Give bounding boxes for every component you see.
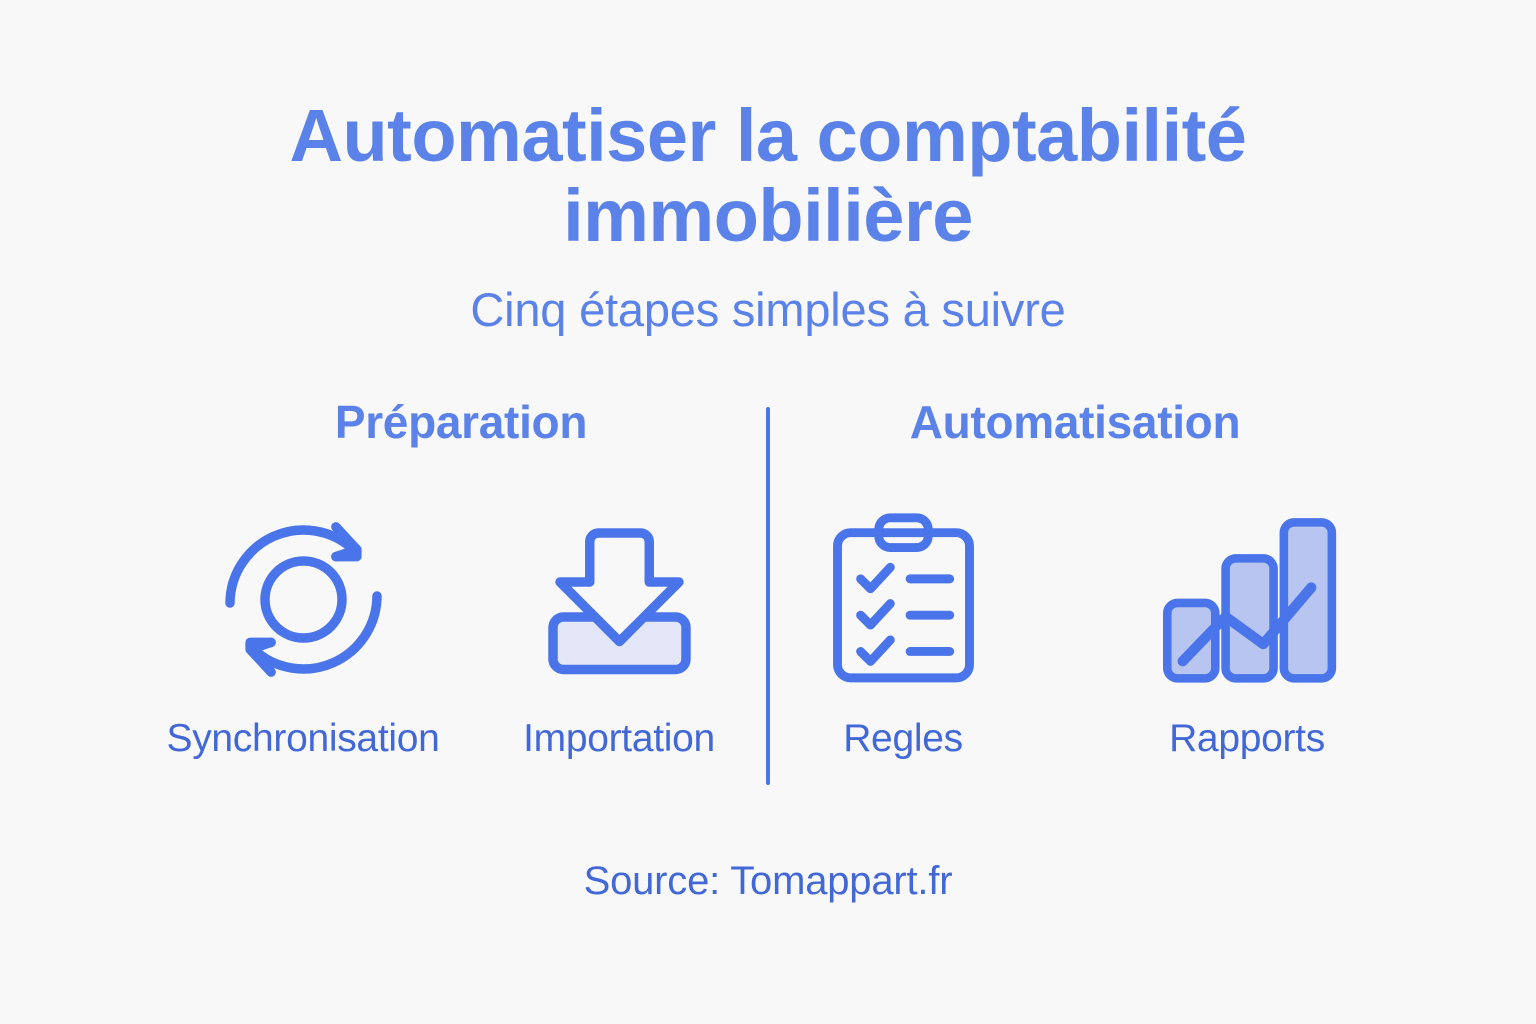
icon-wrap-importation	[532, 505, 707, 695]
items-preparation: Synchronisation Importation	[163, 505, 759, 761]
column-preparation: Préparation	[156, 395, 766, 761]
import-download-tray-icon	[532, 512, 707, 687]
header-block: Automatiser la comptabilité immobilière …	[0, 96, 1536, 337]
sync-arrows-icon	[216, 512, 391, 687]
item-regles[interactable]: Regles	[763, 505, 1043, 761]
item-label-importation: Importation	[523, 717, 715, 761]
item-synchronisation[interactable]: Synchronisation	[163, 505, 443, 761]
column-title-automatisation: Automatisation	[910, 395, 1241, 449]
item-importation[interactable]: Importation	[479, 505, 759, 761]
column-automatisation: Automatisation	[770, 395, 1380, 761]
source-attribution: Source: Tomappart.fr	[584, 859, 953, 904]
page-title: Automatiser la comptabilité immobilière	[178, 96, 1358, 256]
clipboard-checklist-icon	[821, 512, 986, 687]
column-title-preparation: Préparation	[335, 395, 587, 449]
item-rapports[interactable]: Rapports	[1107, 505, 1387, 761]
icon-wrap-rapports	[1157, 505, 1337, 695]
infographic-root: Automatiser la comptabilité immobilière …	[0, 0, 1536, 1024]
items-automatisation: Regles Rapports	[763, 505, 1387, 761]
item-label-rapports: Rapports	[1169, 717, 1325, 761]
icon-wrap-regles	[821, 505, 986, 695]
columns-container: Préparation	[68, 395, 1468, 785]
icon-wrap-synchronisation	[216, 505, 391, 695]
bar-chart-trend-icon	[1157, 512, 1337, 687]
item-label-regles: Regles	[843, 717, 963, 761]
page-subtitle: Cinq étapes simples à suivre	[0, 282, 1536, 337]
item-label-synchronisation: Synchronisation	[167, 717, 440, 761]
